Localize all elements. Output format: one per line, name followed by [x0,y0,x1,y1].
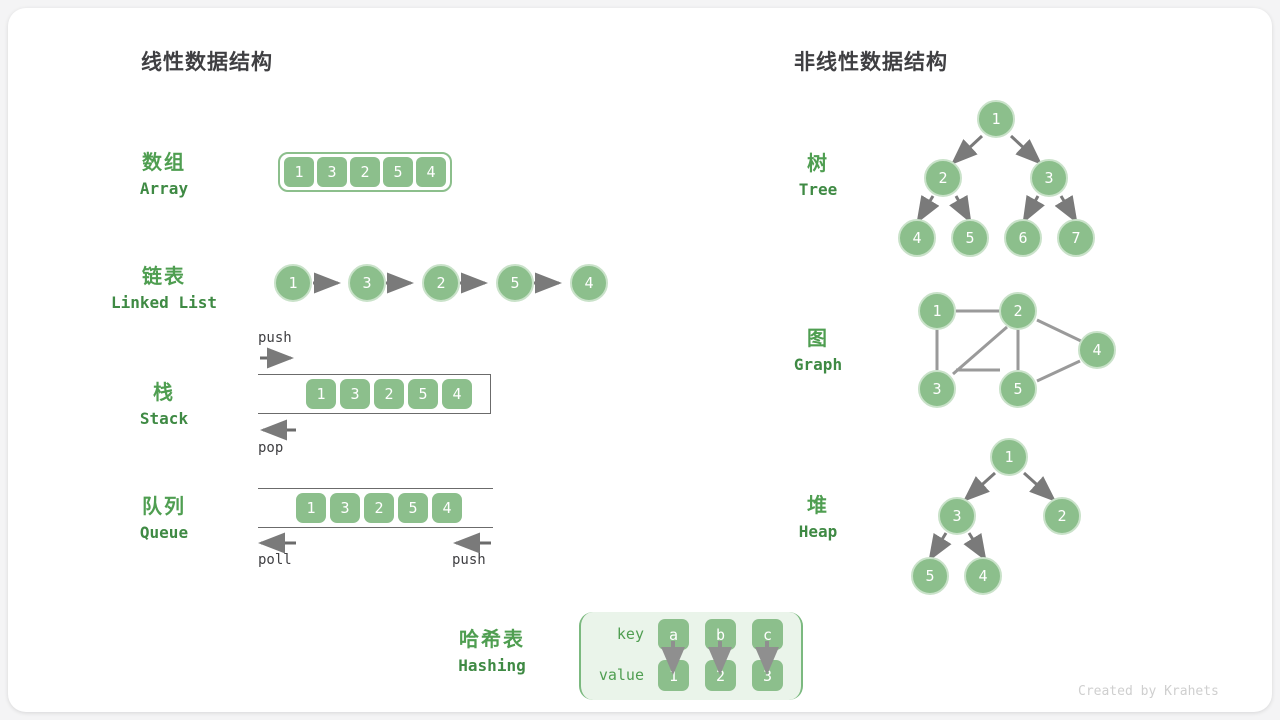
heap-node: 5 [911,557,949,595]
stack-cell: 1 [306,379,336,409]
tree-label-cn: 树 [758,150,878,178]
linked-list-node: 3 [348,264,386,302]
linked-list-node-circle: 1 [274,264,312,302]
tree-label-en: Tree [758,178,878,202]
stack-label: 栈 Stack [104,379,224,431]
hashing-key-label: key [586,625,644,643]
queue-cell: 1 [296,493,326,523]
heap-node: 3 [938,497,976,535]
tree-node: 5 [951,219,989,257]
graph-node: 2 [999,292,1037,330]
array-cell: 4 [416,157,446,187]
linked-list-label-cn: 链表 [104,263,224,291]
hashing-value-cell-box: 2 [705,660,736,691]
linked-list-label-en: Linked List [104,291,224,315]
queue-label: 队列 Queue [104,493,224,545]
tree-node: 7 [1057,219,1095,257]
array-cell: 1 [284,157,314,187]
array-cell: 3 [317,157,347,187]
hashing-value-cell: 3 [752,660,783,691]
heap-label: 堆 Heap [758,492,878,544]
heap-node: 2 [1043,497,1081,535]
hashing-label: 哈希表 Hashing [432,626,552,678]
hashing-key-cell: a [658,619,689,650]
graph-node: 5 [999,370,1037,408]
stack-cells: 1 3 2 5 4 [306,379,472,409]
tree-label: 树 Tree [758,150,878,202]
heap-node: 1 [990,438,1028,476]
tree-node: 4 [898,219,936,257]
linked-list-node-circle: 4 [570,264,608,302]
stack-pop-label: pop [258,440,283,456]
stack-cell: 4 [442,379,472,409]
stack-label-en: Stack [104,407,224,431]
hashing-value-cell-box: 1 [658,660,689,691]
credit-text: Created by Krahets [1078,684,1219,699]
hashing-key-cell-box: c [752,619,783,650]
linked-list-node: 2 [422,264,460,302]
stack-cell: 5 [408,379,438,409]
stack-cell: 3 [340,379,370,409]
linear-column-title: 线性数据结构 [141,46,273,76]
array-label-en: Array [104,177,224,201]
graph-node: 1 [918,292,956,330]
array-cell: 5 [383,157,413,187]
graph-label-en: Graph [758,353,878,377]
linked-list-node-circle: 5 [496,264,534,302]
queue-cell: 2 [364,493,394,523]
hashing-value-label: value [586,666,644,684]
queue-cells: 1 3 2 5 4 [296,493,462,523]
hashing-key-cell-box: a [658,619,689,650]
array-visual: 1 3 2 5 4 [278,152,452,192]
array-cell: 2 [350,157,380,187]
graph-label-cn: 图 [758,325,878,353]
tree-node: 6 [1004,219,1042,257]
linked-list-node: 5 [496,264,534,302]
hashing-label-cn: 哈希表 [432,626,552,654]
hashing-key-cell: b [705,619,736,650]
queue-cell: 3 [330,493,360,523]
heap-node: 4 [964,557,1002,595]
linked-list-node: 1 [274,264,312,302]
queue-label-en: Queue [104,521,224,545]
queue-visual: 1 3 2 5 4 [258,488,493,528]
stack-push-label: push [258,330,292,346]
heap-label-cn: 堆 [758,492,878,520]
stack-visual: 1 3 2 5 4 [258,374,491,414]
stack-label-cn: 栈 [104,379,224,407]
hashing-value-cell: 2 [705,660,736,691]
heap-label-en: Heap [758,520,878,544]
tree-node: 3 [1030,159,1068,197]
diagram-canvas: 线性数据结构 非线性数据结构 数组 Array 1 3 2 5 4 链表 Lin… [8,8,1272,712]
linked-list-node: 4 [570,264,608,302]
array-label: 数组 Array [104,149,224,201]
linked-list-node-circle: 2 [422,264,460,302]
linked-list-node-circle: 3 [348,264,386,302]
hashing-value-cell-box: 3 [752,660,783,691]
nonlinear-column-title: 非线性数据结构 [794,46,948,76]
hashing-value-cell: 1 [658,660,689,691]
array-label-cn: 数组 [104,149,224,177]
hashing-key-cell-box: b [705,619,736,650]
queue-label-cn: 队列 [104,493,224,521]
tree-node: 2 [924,159,962,197]
graph-node: 4 [1078,331,1116,369]
queue-push-label: push [452,552,486,568]
tree-node: 1 [977,100,1015,138]
stack-cell: 2 [374,379,404,409]
hashing-key-cell: c [752,619,783,650]
hashing-label-en: Hashing [432,654,552,678]
queue-poll-label: poll [258,552,292,568]
graph-node: 3 [918,370,956,408]
graph-label: 图 Graph [758,325,878,377]
linked-list-label: 链表 Linked List [104,263,224,315]
queue-cell: 4 [432,493,462,523]
queue-cell: 5 [398,493,428,523]
